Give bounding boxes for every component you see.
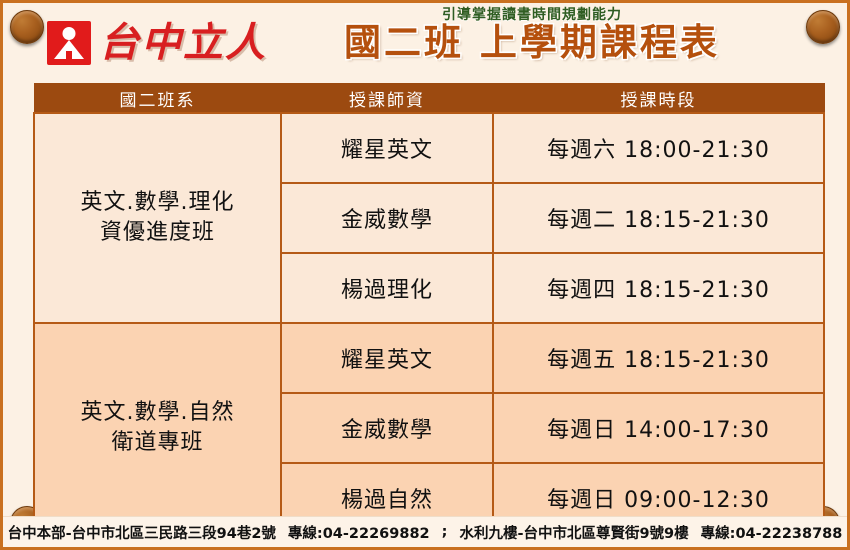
footer-branch1-address: 台中本部-台中市北區三民路三段94巷2號 <box>8 522 276 543</box>
course-name-line1: 英文.數學.理化 <box>81 190 235 215</box>
footer-contact-bar: 台中本部-台中市北區三民路三段94巷2號 專線:04-22269882 ; 水利… <box>3 516 847 547</box>
footer-separator: ; <box>442 524 448 540</box>
footer-branch1-phone: 專線:04-22269882 <box>288 522 430 543</box>
logo-leg-notch <box>66 51 72 61</box>
table-body: 英文.數學.理化 資優進度班 耀星英文 每週六 18:00-21:30 金威數學… <box>34 113 824 533</box>
teacher-cell: 耀星英文 <box>281 113 493 183</box>
time-cell: 每週四 18:15-21:30 <box>493 253 824 323</box>
course-group-cell: 英文.數學.自然 衛道專班 <box>34 323 281 533</box>
course-group-cell: 英文.數學.理化 資優進度班 <box>34 113 281 323</box>
teacher-cell: 楊過理化 <box>281 253 493 323</box>
time-cell: 每週五 18:15-21:30 <box>493 323 824 393</box>
brand-logo: 台中立人 <box>47 21 267 65</box>
time-cell: 每週六 18:00-21:30 <box>493 113 824 183</box>
course-name-line2: 衛道專班 <box>111 430 203 455</box>
column-header-teacher: 授課師資 <box>281 84 493 114</box>
page-title: 國二班 上學期課程表 <box>272 23 792 64</box>
course-name-line2: 資優進度班 <box>100 220 215 245</box>
column-header-time: 授課時段 <box>493 84 824 114</box>
title-block: 引導掌握讀書時間規劃能力 國二班 上學期課程表 <box>272 7 792 63</box>
table-row: 英文.數學.理化 資優進度班 耀星英文 每週六 18:00-21:30 <box>34 113 824 183</box>
poster-container: 台中立人 引導掌握讀書時間規劃能力 國二班 上學期課程表 國二班系 授課師資 授… <box>0 0 850 550</box>
table-row: 英文.數學.自然 衛道專班 耀星英文 每週五 18:15-21:30 <box>34 323 824 393</box>
table-header: 國二班系 授課師資 授課時段 <box>34 84 824 114</box>
column-header-course: 國二班系 <box>34 84 281 114</box>
time-cell: 每週二 18:15-21:30 <box>493 183 824 253</box>
poster-header: 台中立人 引導掌握讀書時間規劃能力 國二班 上學期課程表 <box>3 3 847 83</box>
person-in-square-icon <box>47 21 91 65</box>
footer-branch2-address: 水利九樓-台中市北區尊賢街9號9樓 <box>459 522 688 543</box>
teacher-cell: 金威數學 <box>281 183 493 253</box>
schedule-table: 國二班系 授課師資 授課時段 英文.數學.理化 資優進度班 耀星英文 每週六 1… <box>33 83 825 534</box>
logo-head-shape <box>63 27 76 40</box>
table-header-row: 國二班系 授課師資 授課時段 <box>34 84 824 114</box>
brand-name: 台中立人 <box>99 23 267 63</box>
time-cell: 每週日 14:00-17:30 <box>493 393 824 463</box>
course-name-line1: 英文.數學.自然 <box>81 400 235 425</box>
teacher-cell: 耀星英文 <box>281 323 493 393</box>
teacher-cell: 金威數學 <box>281 393 493 463</box>
footer-branch2-phone: 專線:04-22238788 <box>701 522 843 543</box>
